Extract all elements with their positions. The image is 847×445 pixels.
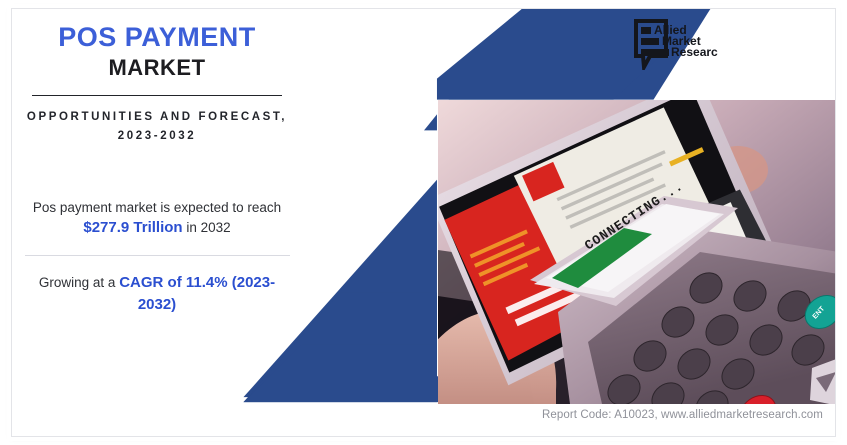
title-block: POS PAYMENT MARKET bbox=[12, 9, 302, 82]
stat-1-prefix: Pos payment market is expected to reach bbox=[33, 200, 281, 215]
stat-2-highlight: CAGR of 11.4% (2023-2032) bbox=[119, 274, 275, 313]
stat-market-value: Pos payment market is expected to reach … bbox=[12, 198, 302, 239]
infographic-frame: POS PAYMENT MARKET OPPORTUNITIES AND FOR… bbox=[11, 8, 836, 437]
page-title-primary: POS PAYMENT bbox=[12, 23, 302, 52]
pos-terminal-photo: CONNECTING... bbox=[438, 100, 836, 404]
photo-artwork: CONNECTING... bbox=[438, 100, 836, 404]
report-caption: Report Code: A10023, www.alliedmarketres… bbox=[542, 409, 823, 421]
logo-icon: Allied Market Research bbox=[632, 18, 718, 70]
left-content-column: POS PAYMENT MARKET OPPORTUNITIES AND FOR… bbox=[12, 9, 302, 315]
infographic-root: POS PAYMENT MARKET OPPORTUNITIES AND FOR… bbox=[0, 0, 847, 445]
logo-text-line3: Research bbox=[671, 45, 718, 59]
allied-market-research-logo[interactable]: Allied Market Research bbox=[632, 18, 718, 70]
subtitle-text: OPPORTUNITIES AND FORECAST, 2023-2032 bbox=[12, 108, 302, 146]
stat-divider bbox=[25, 255, 290, 256]
page-title-secondary: MARKET bbox=[12, 52, 302, 82]
stat-cagr: Growing at a CAGR of 11.4% (2023-2032) bbox=[12, 272, 302, 316]
title-divider bbox=[32, 95, 282, 96]
stat-1-highlight: $277.9 Trillion bbox=[83, 219, 182, 236]
stat-2-prefix: Growing at a bbox=[39, 275, 119, 290]
stat-1-suffix: in 2032 bbox=[183, 220, 231, 235]
